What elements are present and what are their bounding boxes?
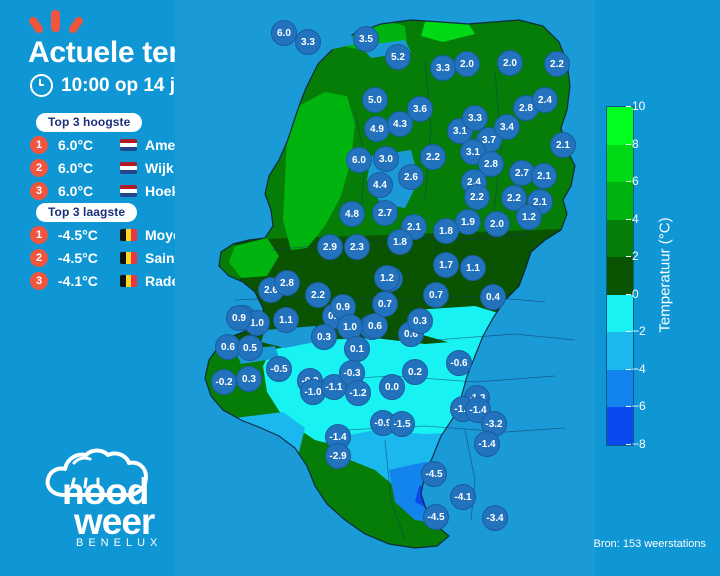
station-marker[interactable]: 2.2	[544, 51, 570, 77]
station-marker[interactable]: 1.7	[433, 252, 459, 278]
station-marker[interactable]: 3.0	[373, 146, 399, 172]
legend-band	[607, 295, 633, 333]
station-marker[interactable]: 3.5	[353, 26, 379, 52]
temperature-map[interactable]: 6.03.33.55.23.32.02.02.25.03.62.82.44.94…	[175, 0, 595, 576]
station-marker[interactable]: 2.7	[372, 200, 398, 226]
rank-temperature: -4.5°C	[58, 227, 120, 243]
station-marker[interactable]: 1.1	[273, 307, 299, 333]
rank-number: 2	[30, 159, 48, 177]
legend-tick-label: −8	[632, 437, 646, 451]
station-marker[interactable]: 2.1	[550, 132, 576, 158]
rank-number: 1	[30, 136, 48, 154]
legend-band	[607, 370, 633, 408]
legend-tick-label: 8	[632, 137, 639, 151]
station-marker[interactable]: 2.0	[497, 50, 523, 76]
flag-nl-icon	[120, 162, 137, 174]
station-marker[interactable]: 1.8	[433, 218, 459, 244]
station-marker[interactable]: 3.3	[295, 29, 321, 55]
station-marker[interactable]: 0.3	[407, 308, 433, 334]
station-marker[interactable]: -4.1	[450, 484, 476, 510]
station-marker[interactable]: -0.5	[266, 356, 292, 382]
legend-tick-label: 6	[632, 174, 639, 188]
station-marker[interactable]: 2.4	[532, 87, 558, 113]
station-marker[interactable]: 2.8	[274, 270, 300, 296]
station-marker[interactable]: 2.1	[531, 163, 557, 189]
station-marker[interactable]: 2.2	[305, 282, 331, 308]
station-marker[interactable]: -4.5	[423, 504, 449, 530]
station-marker[interactable]: 5.2	[385, 44, 411, 70]
station-marker[interactable]: 1.2	[374, 265, 400, 291]
legend-band	[607, 220, 633, 258]
clock-icon	[30, 74, 53, 97]
station-marker[interactable]: 4.4	[367, 172, 393, 198]
top3-lowest-badge: Top 3 laagste	[36, 203, 137, 222]
station-marker[interactable]: 0.7	[423, 282, 449, 308]
legend-tick-label: 4	[632, 212, 639, 226]
rank-number: 1	[30, 226, 48, 244]
legend-band	[607, 407, 633, 445]
station-marker[interactable]: 2.0	[484, 211, 510, 237]
station-marker[interactable]: -0.2	[211, 369, 237, 395]
station-marker[interactable]: 4.8	[339, 201, 365, 227]
station-marker[interactable]: 1.2	[516, 204, 542, 230]
rank-temperature: 6.0°C	[58, 137, 120, 153]
station-marker[interactable]: -1.4	[474, 431, 500, 457]
station-marker[interactable]: 0.1	[344, 336, 370, 362]
station-marker[interactable]: 2.2	[420, 144, 446, 170]
station-marker[interactable]: 3.3	[430, 55, 456, 81]
legend-tick-label: −2	[632, 324, 646, 338]
station-marker[interactable]: 0.3	[311, 324, 337, 350]
station-marker[interactable]: 2.2	[464, 184, 490, 210]
station-marker[interactable]: 1.8	[387, 229, 413, 255]
source-label: Bron: 153 weerstations	[593, 538, 706, 550]
flag-be-icon	[120, 229, 137, 241]
station-marker[interactable]: 2.6	[398, 164, 424, 190]
sun-rays-icon	[28, 8, 98, 34]
station-marker[interactable]: 5.0	[362, 87, 388, 113]
logo[interactable]: nood weer BENELUX	[34, 447, 184, 557]
flag-be-icon	[120, 275, 137, 287]
station-marker[interactable]: 2.9	[317, 234, 343, 260]
legend-band	[607, 145, 633, 183]
legend-band	[607, 182, 633, 220]
station-marker[interactable]: -3.4	[482, 505, 508, 531]
station-marker[interactable]: 6.0	[346, 147, 372, 173]
legend-tick-label: 10	[632, 99, 645, 113]
legend-title: Temperatuur (°C)	[657, 217, 674, 332]
flag-nl-icon	[120, 139, 137, 151]
legend-tick-label: −4	[632, 362, 646, 376]
rank-temperature: 6.0°C	[58, 160, 120, 176]
station-marker[interactable]: 0.5	[237, 335, 263, 361]
station-marker[interactable]: 1.1	[460, 255, 486, 281]
station-marker[interactable]: -2.9	[325, 443, 351, 469]
flag-nl-icon	[120, 185, 137, 197]
station-marker[interactable]: 0.7	[372, 291, 398, 317]
station-marker[interactable]: 4.3	[387, 111, 413, 137]
station-marker[interactable]: -1.5	[389, 411, 415, 437]
logo-line-3: BENELUX	[76, 537, 162, 549]
rank-number: 3	[30, 272, 48, 290]
legend-tick-label: −6	[632, 399, 646, 413]
station-marker[interactable]: 6.0	[271, 20, 297, 46]
station-marker[interactable]: 0.0	[379, 374, 405, 400]
station-marker[interactable]: 3.3	[462, 105, 488, 131]
legend-band	[607, 107, 633, 145]
top3-highest-badge: Top 3 hoogste	[36, 113, 142, 132]
station-marker[interactable]: 0.2	[402, 359, 428, 385]
station-marker[interactable]: -4.5	[421, 461, 447, 487]
rank-temperature: 6.0°C	[58, 183, 120, 199]
legend-tick-label: 0	[632, 287, 639, 301]
rank-temperature: -4.1°C	[58, 273, 120, 289]
station-marker[interactable]: 2.3	[344, 234, 370, 260]
legend-band	[607, 257, 633, 295]
legend-band	[607, 332, 633, 370]
rank-number: 2	[30, 249, 48, 267]
station-marker[interactable]: 0.4	[480, 284, 506, 310]
flag-be-icon	[120, 252, 137, 264]
station-marker[interactable]: 4.9	[364, 116, 390, 142]
station-marker[interactable]: 3.4	[494, 114, 520, 140]
rank-temperature: -4.5°C	[58, 250, 120, 266]
station-marker[interactable]: -0.6	[446, 350, 472, 376]
station-marker[interactable]: -1.2	[345, 380, 371, 406]
station-marker[interactable]: 0.3	[236, 366, 262, 392]
legend-colorbar	[606, 106, 634, 446]
legend-tick-label: 2	[632, 249, 639, 263]
station-marker[interactable]: 2.0	[454, 51, 480, 77]
rank-number: 3	[30, 182, 48, 200]
station-marker[interactable]: 0.9	[226, 305, 252, 331]
